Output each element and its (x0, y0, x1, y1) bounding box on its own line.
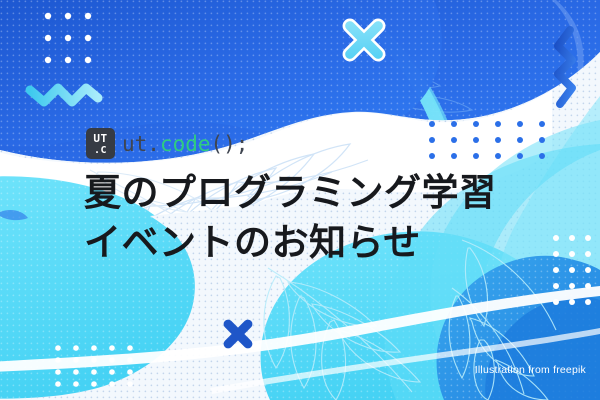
wordmark-keyword: code (160, 132, 211, 156)
headline-line-2: イベントのお知らせ (84, 218, 554, 268)
utcode-badge-icon: UT .C (86, 128, 115, 159)
brand-wordmark: ut.code(); (122, 132, 248, 156)
illustration-credit: Illustration from freepik (475, 364, 586, 376)
wordmark-prefix: ut. (122, 132, 160, 156)
promo-banner: UT .C ut.code(); 夏のプログラミング学習 イベントのお知らせ I… (0, 0, 600, 400)
banner-content: UT .C ut.code(); 夏のプログラミング学習 イベントのお知らせ I… (0, 0, 600, 400)
badge-line-1: UT (93, 133, 107, 144)
badge-line-2: .C (94, 146, 107, 156)
headline-line-1: 夏のプログラミング学習 (84, 168, 554, 218)
wordmark-suffix: (); (211, 132, 249, 156)
brand-logo: UT .C ut.code(); (86, 128, 248, 159)
headline: 夏のプログラミング学習 イベントのお知らせ (84, 168, 554, 268)
